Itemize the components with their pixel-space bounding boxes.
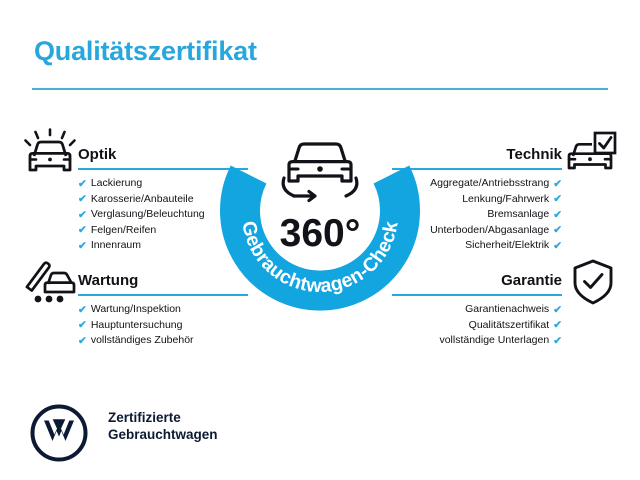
list-item: ✔Hauptuntersuchung	[78, 318, 248, 334]
list-item-label: Aggregate/Antriebsstrang	[430, 176, 549, 192]
list-item-label: Lackierung	[91, 176, 142, 192]
vw-footer-text: Zertifizierte Gebrauchtwagen	[108, 409, 218, 443]
check-icon: ✔	[78, 305, 87, 316]
car-shine-icon	[22, 128, 78, 178]
car-checkbox-icon	[566, 130, 618, 178]
list-item-label: Innenraum	[91, 238, 141, 254]
list-item: Qualitätszertifikat✔	[392, 318, 562, 334]
section-title: Garantie	[501, 272, 562, 289]
certificate-page: Qualitätszertifikat	[0, 0, 640, 480]
vw-footer-line2: Gebrauchtwagen	[108, 426, 218, 443]
check-icon: ✔	[553, 225, 562, 236]
wrench-car-icon	[22, 258, 78, 306]
badge-center-label: 360°	[280, 212, 361, 255]
list-item-label: Karosserie/Anbauteile	[91, 192, 194, 208]
page-title: Qualitätszertifikat	[34, 36, 257, 67]
check-icon: ✔	[553, 241, 562, 252]
list-item-label: vollständige Unterlagen	[439, 333, 549, 349]
section-title: Wartung	[78, 272, 138, 289]
list-item-label: Felgen/Reifen	[91, 223, 156, 239]
check-icon: ✔	[78, 241, 87, 252]
check-icon: ✔	[78, 336, 87, 347]
vw-footer: Zertifizierte Gebrauchtwagen	[30, 404, 280, 460]
shield-check-icon	[570, 258, 616, 306]
check-icon: ✔	[553, 194, 562, 205]
check-icon: ✔	[553, 305, 562, 316]
title-divider	[32, 88, 608, 90]
list-item-label: Sicherheit/Elektrik	[465, 238, 549, 254]
list-item-label: Garantienachweis	[465, 302, 549, 318]
check-icon: ✔	[553, 336, 562, 347]
section-title: Technik	[506, 146, 562, 163]
check-icon: ✔	[78, 179, 87, 190]
vw-logo	[30, 404, 88, 462]
section-title: Optik	[78, 146, 116, 163]
vw-footer-line1: Zertifizierte	[108, 409, 218, 426]
list-item-label: Verglasung/Beleuchtung	[91, 207, 205, 223]
check-icon: ✔	[78, 210, 87, 221]
list-item: vollständige Unterlagen✔	[392, 333, 562, 349]
check-icon: ✔	[78, 194, 87, 205]
badge-360-gebrauchtwagen-check: Gebrauchtwagen-Check 360°	[218, 112, 422, 316]
list-item-label: Unterboden/Abgasanlage	[430, 223, 549, 239]
car-rotate-icon	[283, 144, 357, 201]
check-icon: ✔	[553, 320, 562, 331]
list-item-label: Hauptuntersuchung	[91, 318, 183, 334]
list-item-label: Qualitätszertifikat	[469, 318, 550, 334]
list-item-label: Bremsanlage	[487, 207, 549, 223]
check-icon: ✔	[553, 179, 562, 190]
list-item-label: vollständiges Zubehör	[91, 333, 194, 349]
check-icon: ✔	[553, 210, 562, 221]
list-item-label: Wartung/Inspektion	[91, 302, 181, 318]
check-icon: ✔	[78, 225, 87, 236]
check-icon: ✔	[78, 320, 87, 331]
list-item-label: Lenkung/Fahrwerk	[462, 192, 549, 208]
list-item: ✔vollständiges Zubehör	[78, 333, 248, 349]
